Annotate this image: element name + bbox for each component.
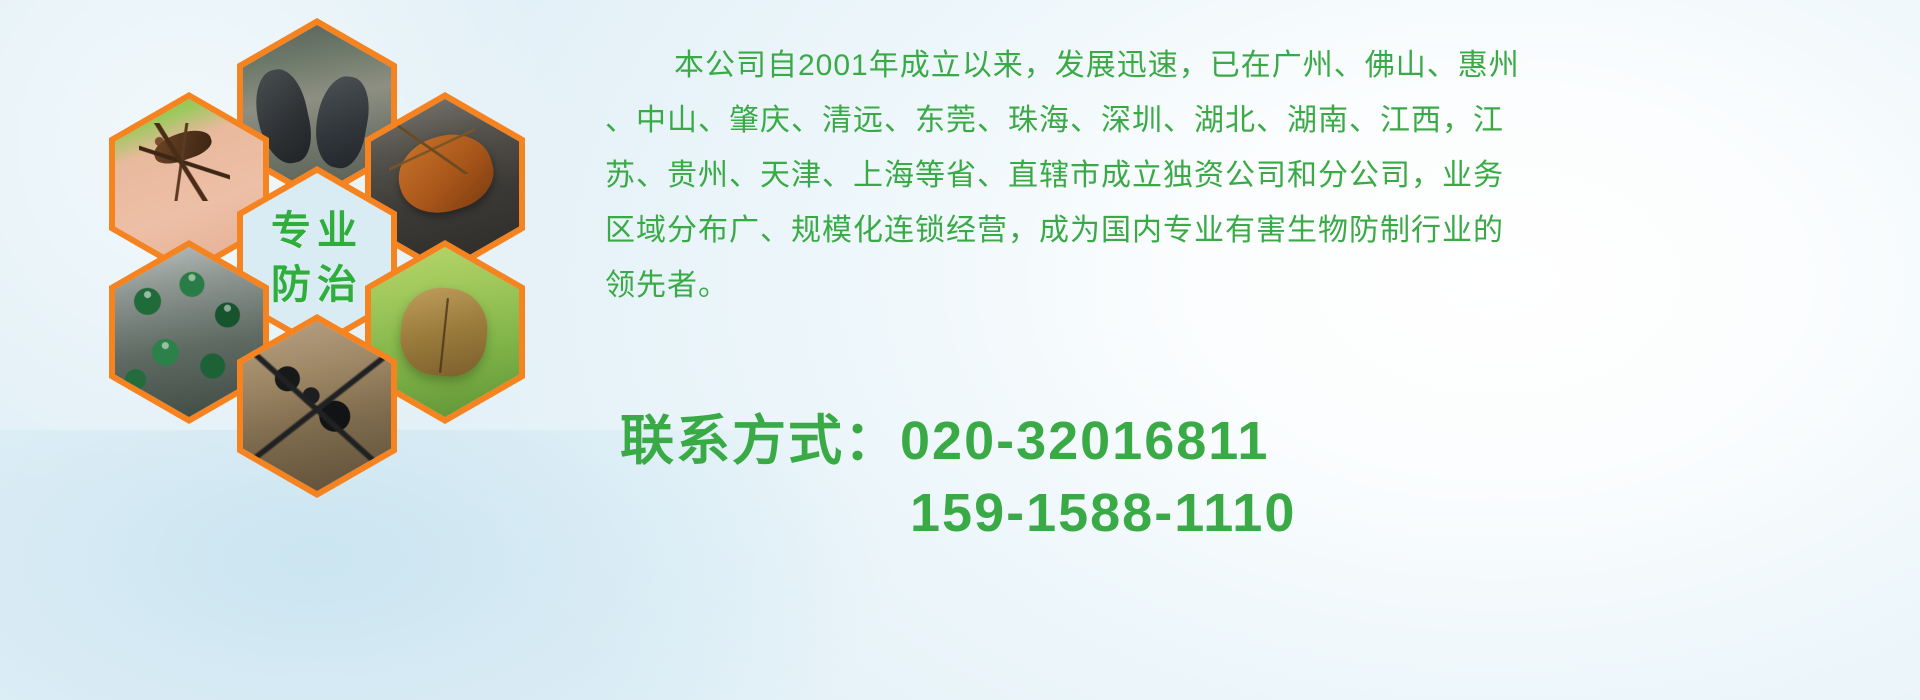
- intro-line-2: 、中山、肇庆、清远、东莞、珠海、深圳、湖北、湖南、江西，江: [605, 93, 1905, 148]
- intro-line-3: 苏、贵州、天津、上海等省、直辖市成立独资公司和分公司，业务: [605, 148, 1905, 203]
- intro-line-1: 本公司自2001年成立以来，发展迅速，已在广州、佛山、惠州: [605, 38, 1905, 93]
- honeycomb-image-cluster: 专业 防治: [85, 10, 585, 570]
- hex-photo-frame: [243, 321, 391, 491]
- contact-block: 联系方式：020-32016811 159-1588-1110: [620, 405, 1296, 549]
- company-intro-text: 本公司自2001年成立以来，发展迅速，已在广州、佛山、惠州 、中山、肇庆、清远、…: [605, 38, 1905, 313]
- intro-line-5: 领先者。: [605, 258, 1905, 313]
- pest-control-banner: 专业 防治 本公司自2001年成立以来，发展迅速，已在广州、佛山、惠州 、中山、…: [0, 0, 1920, 700]
- center-label-line-1: 专业: [271, 204, 363, 258]
- contact-line-primary[interactable]: 联系方式：020-32016811: [620, 405, 1296, 477]
- intro-line-4: 区域分布广、规模化连锁经营，成为国内专业有害生物防制行业的: [605, 203, 1905, 258]
- center-label-line-2: 防治: [271, 258, 363, 312]
- contact-line-secondary[interactable]: 159-1588-1110: [620, 477, 1296, 549]
- ant-photo: [243, 321, 391, 491]
